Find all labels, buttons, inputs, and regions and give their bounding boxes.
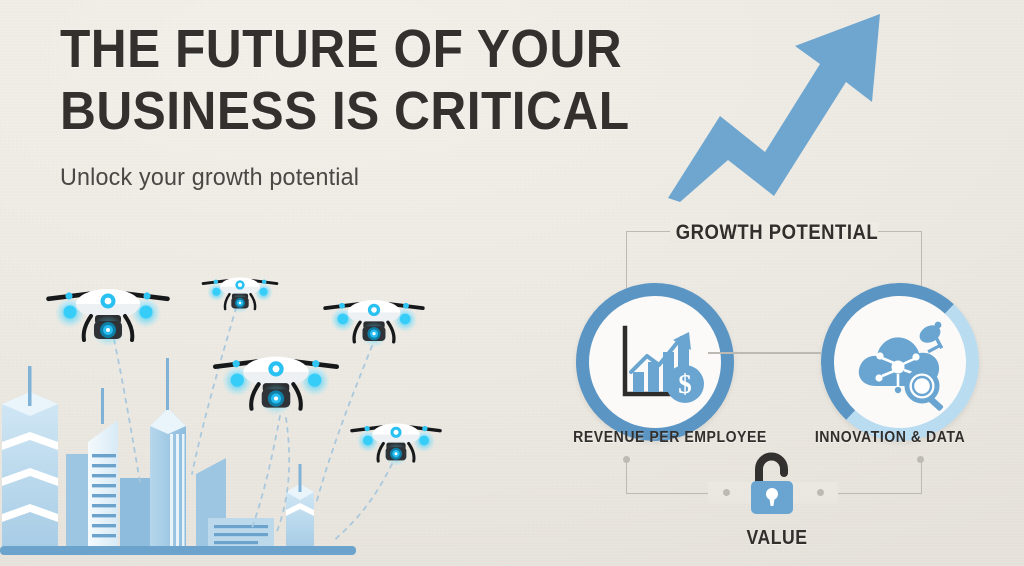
subtitle: Unlock your growth potential <box>60 164 603 192</box>
outcome-label-value: VALUE <box>645 527 909 550</box>
connector-dot-left <box>623 456 630 463</box>
connector-dot-mid-right <box>817 489 824 496</box>
drone-2 <box>202 277 279 313</box>
svg-text:$: $ <box>678 369 692 399</box>
node-label-innovation-and-data: INNOVATION & DATA <box>758 429 1022 447</box>
drone-5 <box>350 423 442 466</box>
drone-1 <box>46 289 170 347</box>
open-padlock-icon <box>745 452 799 520</box>
connector-dot-right <box>917 456 924 463</box>
headline-line-2: BUSINESS IS CRITICAL <box>60 80 575 142</box>
connector-dot-mid-left <box>723 489 730 496</box>
connector-between-nodes <box>708 352 821 354</box>
drone-4 <box>213 357 340 416</box>
drone-city-illustration <box>0 246 540 566</box>
bar-chart-dollar-icon: $ <box>589 296 721 428</box>
diagram-header-label: GROWTH POTENTIAL <box>560 221 995 245</box>
cloud-network-search-icon <box>834 296 966 428</box>
growth-diagram: GROWTH POTENTIAL $ <box>530 0 1024 566</box>
drone-3 <box>323 300 425 348</box>
infographic-canvas: THE FUTURE OF YOUR BUSINESS IS CRITICAL … <box>0 0 1024 566</box>
node-innovation-and-data[interactable] <box>818 280 981 443</box>
headline-line-1: THE FUTURE OF YOUR <box>60 18 575 80</box>
node-revenue-per-employee[interactable]: $ <box>576 283 734 441</box>
